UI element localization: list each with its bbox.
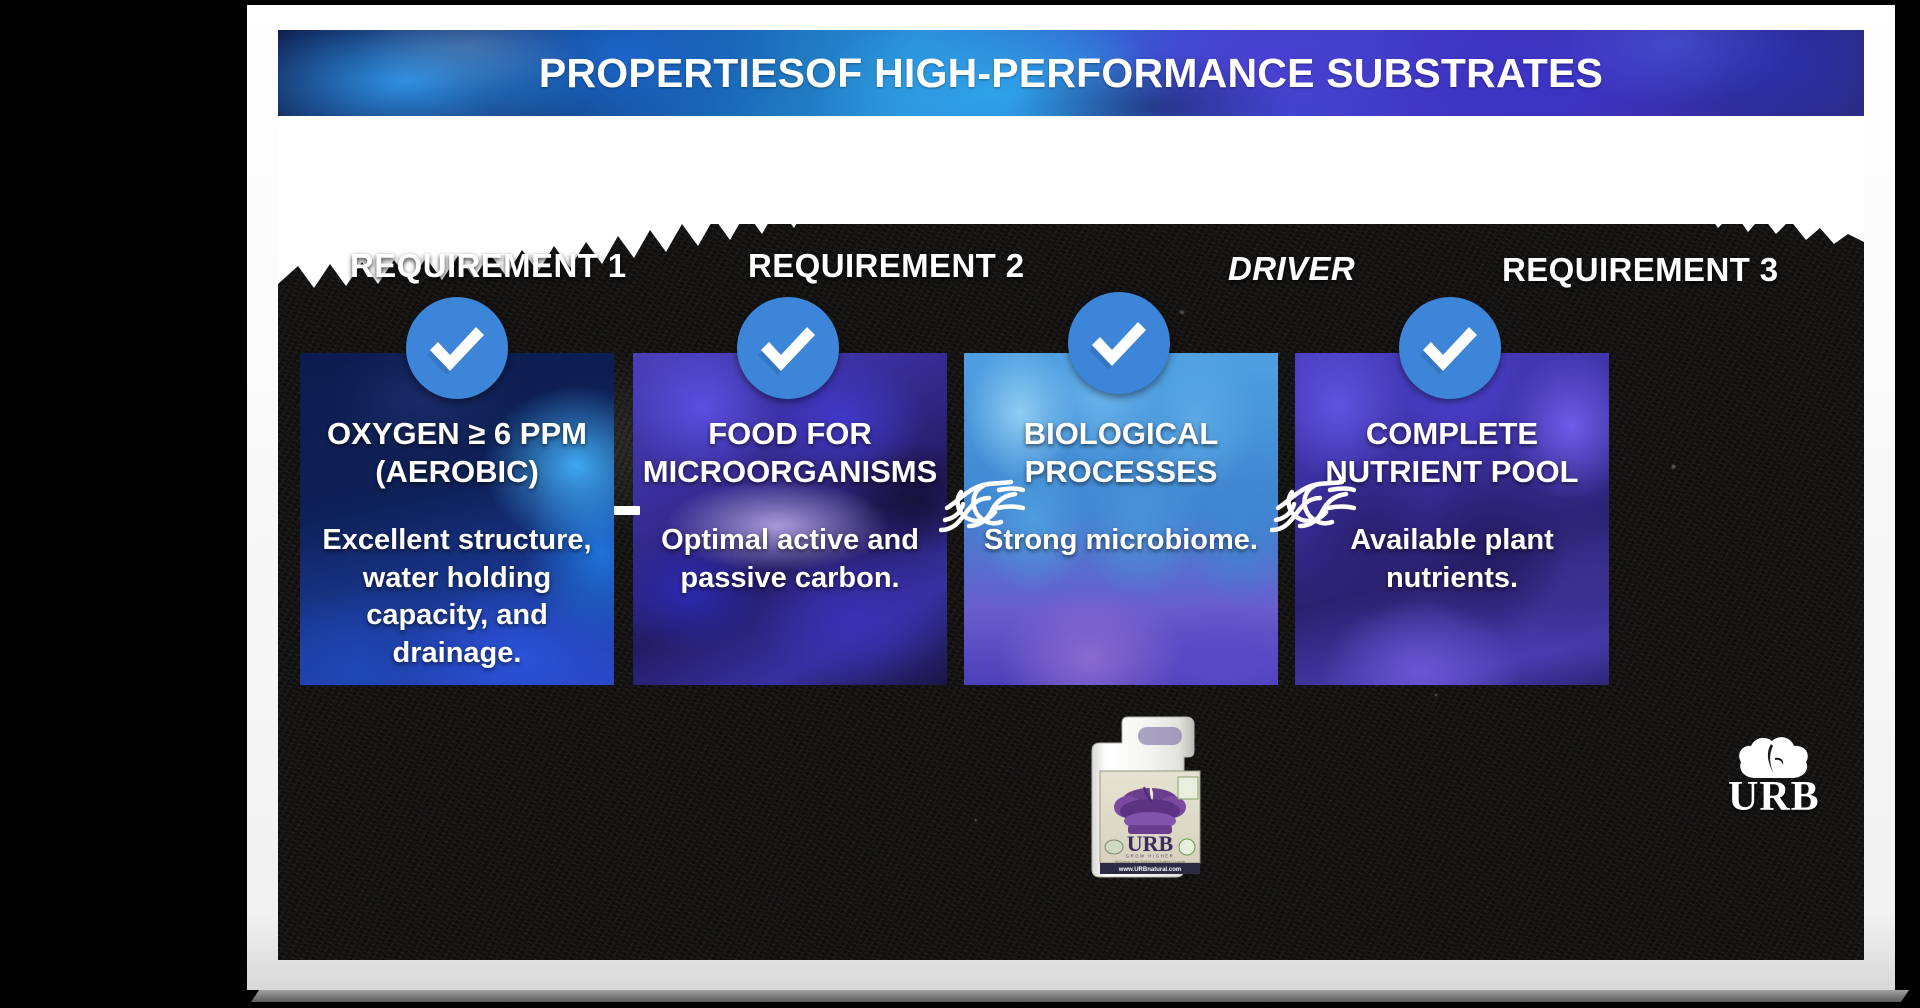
card-2-body: Optimal active and passive carbon.: [643, 522, 937, 597]
check-badge-3: [1068, 292, 1170, 394]
bottle-badge-omri: [1178, 777, 1198, 799]
card-requirement-2: FOOD FOR MICROORGANISMS Optimal active a…: [633, 353, 947, 685]
bottle-net-contents: Net Contents: 1 Liter / 33.814 fl oz / 0…: [1115, 860, 1186, 864]
bottle-website: www.URBnatural.com: [1118, 867, 1181, 873]
column-header-1: REQUIREMENT 1: [350, 247, 627, 285]
product-bottle: URB GROW HIGHER Net Contents: 1 Liter / …: [1086, 707, 1214, 879]
card-3-body: Strong microbiome.: [984, 522, 1258, 560]
bottle-brand: URB: [1127, 831, 1174, 856]
column-header-4: REQUIREMENT 3: [1502, 251, 1779, 289]
corner-logo: URB: [1728, 734, 1820, 818]
page-title: PROPERTIESOF HIGH-PERFORMANCE SUBSTRATES: [539, 50, 1603, 97]
card-1-body: Excellent structure, water holding capac…: [310, 522, 604, 673]
corner-logo-text: URB: [1728, 776, 1820, 818]
soil-background: REQUIREMENT 1 REQUIREMENT 2 DRIVER REQUI…: [278, 116, 1864, 960]
card-1-title: OXYGEN ≥ 6 PPM (AEROBIC): [310, 415, 604, 492]
check-icon: [1088, 317, 1150, 369]
column-header-3: DRIVER: [1228, 250, 1355, 288]
check-icon: [757, 322, 819, 374]
check-badge-1: [406, 297, 508, 399]
bottle-tagline: GROW HIGHER: [1126, 854, 1175, 859]
check-badge-4: [1399, 297, 1501, 399]
slide-frame: PROPERTIESOF HIGH-PERFORMANCE SUBSTRATES…: [247, 5, 1895, 990]
title-banner: PROPERTIESOF HIGH-PERFORMANCE SUBSTRATES: [278, 30, 1864, 116]
connector-knot-icon-2: [1270, 468, 1356, 544]
slide-canvas: PROPERTIESOF HIGH-PERFORMANCE SUBSTRATES…: [278, 30, 1864, 960]
card-2-title: FOOD FOR MICROORGANISMS: [643, 415, 938, 492]
check-icon: [426, 322, 488, 374]
slide-stage: PROPERTIESOF HIGH-PERFORMANCE SUBSTRATES…: [0, 0, 1920, 1008]
bottle-seal-left: [1105, 840, 1123, 854]
bottle-seal-right: [1179, 839, 1195, 855]
column-header-2: REQUIREMENT 2: [748, 247, 1025, 285]
check-icon: [1419, 322, 1481, 374]
bottle-handle: [1138, 727, 1182, 745]
card-requirement-1: OXYGEN ≥ 6 PPM (AEROBIC) Excellent struc…: [300, 353, 614, 685]
connector-knot-icon-1: [939, 468, 1025, 544]
connector-dash-icon: [614, 506, 640, 515]
check-badge-2: [737, 297, 839, 399]
